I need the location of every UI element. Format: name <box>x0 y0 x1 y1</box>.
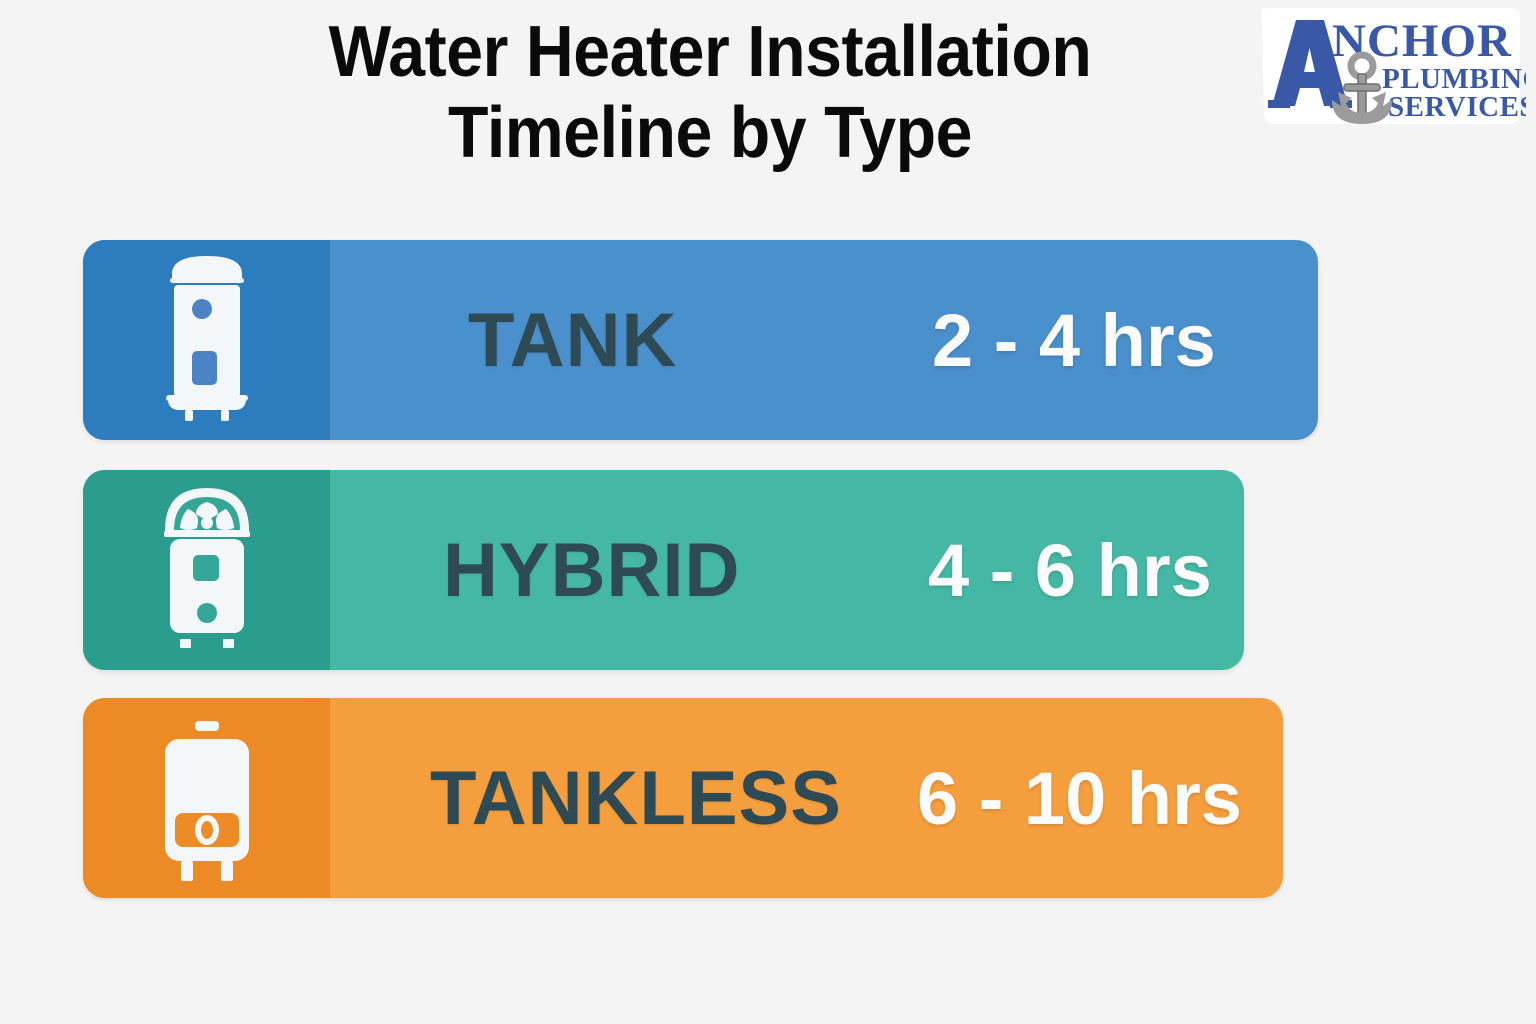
page-title: Water Heater Installation Timeline by Ty… <box>222 12 1197 173</box>
bar-label-tankless: TANKLESS <box>430 755 842 842</box>
bar-duration-hybrid: 4 - 6 hrs <box>928 528 1212 613</box>
timeline-bar-hybrid[interactable]: HYBRID 4 - 6 hrs <box>83 470 1244 670</box>
page-title-line-1: Water Heater Installation <box>222 12 1197 93</box>
svg-text:NCHOR: NCHOR <box>1332 15 1512 67</box>
bar-duration-tankless: 6 - 10 hrs <box>917 756 1242 841</box>
bar-label-tank: TANK <box>468 297 677 384</box>
bar-body-tankless: TANKLESS 6 - 10 hrs <box>330 698 1283 898</box>
svg-text:SERVICES: SERVICES <box>1388 91 1526 123</box>
timeline-bar-tank[interactable]: TANK 2 - 4 hrs <box>83 240 1318 440</box>
tank-water-heater-icon <box>154 252 260 428</box>
company-logo[interactable]: NCHOR PLUMBING SERVICES <box>1248 4 1526 132</box>
logo-word-anchor: NCHOR <box>1332 15 1512 67</box>
icon-panel-hybrid <box>83 470 330 670</box>
bar-duration-tank: 2 - 4 hrs <box>932 298 1216 383</box>
bar-body-hybrid: HYBRID 4 - 6 hrs <box>330 470 1244 670</box>
tankless-water-heater-icon <box>155 709 259 887</box>
hybrid-heat-pump-water-heater-icon <box>155 482 259 658</box>
bar-label-hybrid: HYBRID <box>443 527 740 614</box>
header: Water Heater Installation Timeline by Ty… <box>0 0 1536 215</box>
bar-body-tank: TANK 2 - 4 hrs <box>330 240 1318 440</box>
page-title-line-2: Timeline by Type <box>222 93 1197 174</box>
timeline-bar-tankless[interactable]: TANKLESS 6 - 10 hrs <box>83 698 1283 898</box>
icon-panel-tankless <box>83 698 330 898</box>
icon-panel-tank <box>83 240 330 440</box>
logo-word-services: SERVICES <box>1388 91 1526 123</box>
